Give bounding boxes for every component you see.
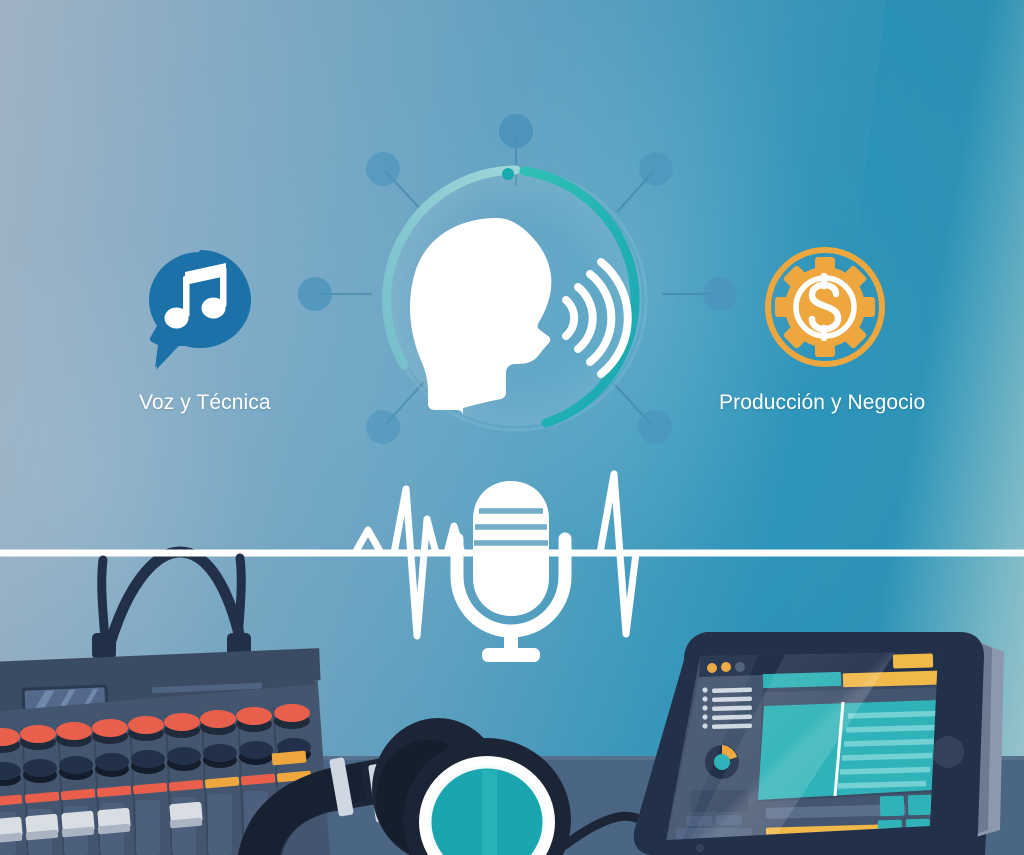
app-titlebar-action[interactable] xyxy=(893,653,933,668)
podcast-poster-canvas: Voz y Técnica Producción y Negocio xyxy=(0,0,1024,855)
tablet-daw-app[interactable] xyxy=(0,0,1024,855)
tablet-home-button[interactable] xyxy=(932,736,964,768)
tablet-camera-dot xyxy=(696,844,704,852)
